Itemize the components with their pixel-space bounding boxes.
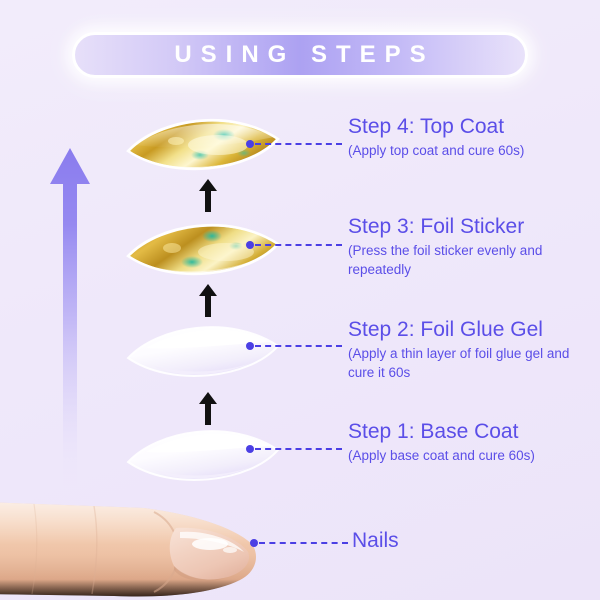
step-arrow-up-icon — [198, 178, 218, 212]
nail-preview-step-1 — [126, 422, 286, 488]
step-title-3: Step 3: Foil Sticker — [348, 214, 592, 239]
step-title-4: Step 4: Top Coat — [348, 114, 592, 139]
nail-preview-step-2 — [126, 318, 286, 384]
connector-dash — [255, 345, 342, 347]
step-description-3: (Press the foil sticker evenly and repea… — [348, 241, 592, 279]
connector-step-1 — [246, 444, 342, 454]
connector-dot — [246, 241, 254, 249]
connector-dash — [255, 244, 342, 246]
finger-illustration — [0, 486, 284, 600]
step-block-4: Step 4: Top Coat (Apply top coat and cur… — [348, 114, 592, 160]
step-arrow-up-icon — [198, 391, 218, 425]
connector-step-4 — [246, 139, 342, 149]
connector-step-3 — [246, 240, 342, 250]
connector-nails — [250, 538, 348, 548]
step-title-2: Step 2: Foil Glue Gel — [348, 317, 592, 342]
progress-arrow-up-icon — [48, 146, 92, 496]
connector-dash — [255, 448, 342, 450]
step-description-1: (Apply base coat and cure 60s) — [348, 446, 592, 465]
connector-dot — [246, 140, 254, 148]
header-banner: USING STEPS — [72, 32, 528, 78]
connector-dash — [255, 143, 342, 145]
connector-dash — [259, 542, 348, 544]
nails-label: Nails — [352, 528, 399, 553]
connector-dot — [246, 445, 254, 453]
page-title: USING STEPS — [165, 43, 434, 67]
connector-dot — [246, 342, 254, 350]
step-block-1: Step 1: Base Coat (Apply base coat and c… — [348, 419, 592, 465]
step-block-3: Step 3: Foil Sticker (Press the foil sti… — [348, 214, 592, 279]
infographic-canvas: USING STEPS — [0, 0, 600, 600]
connector-step-2 — [246, 341, 342, 351]
step-description-4: (Apply top coat and cure 60s) — [348, 141, 592, 160]
step-title-1: Step 1: Base Coat — [348, 419, 592, 444]
step-arrow-up-icon — [198, 283, 218, 317]
step-block-2: Step 2: Foil Glue Gel (Apply a thin laye… — [348, 317, 592, 382]
step-description-2: (Apply a thin layer of foil glue gel and… — [348, 344, 592, 382]
connector-dot — [250, 539, 258, 547]
